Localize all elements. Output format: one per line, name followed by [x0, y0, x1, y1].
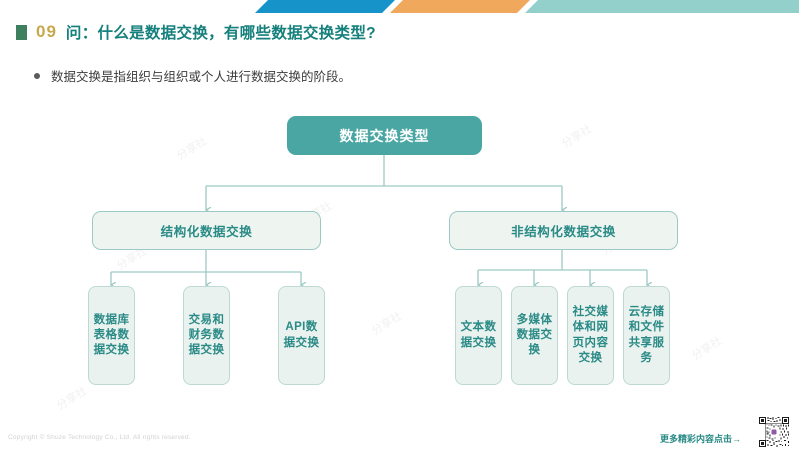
- teal-band: [525, 0, 799, 13]
- tree-leaf-trade-finance-label: 交易和财务数据交换: [187, 313, 226, 359]
- tree-node-root[interactable]: 数据交换类型: [287, 116, 482, 155]
- tree-leaf-cloud-storage-label: 云存储和文件共享服务: [627, 305, 666, 366]
- tree-leaf-text-label: 文本数据交换: [459, 320, 498, 350]
- tree-leaf-db-table[interactable]: 数据库表格数据交换: [88, 286, 135, 385]
- tree-node-structured[interactable]: 结构化数据交换: [92, 211, 321, 250]
- tree-node-structured-label: 结构化数据交换: [161, 221, 253, 240]
- tree-leaf-multimedia-label: 多媒体数据交换: [515, 313, 554, 359]
- tree-node-root-label: 数据交换类型: [340, 126, 430, 146]
- qr-code-icon: [758, 416, 790, 448]
- top-decorative-bar: [0, 0, 799, 13]
- tree-leaf-cloud-storage[interactable]: 云存储和文件共享服务: [623, 286, 670, 385]
- tree-node-unstructured[interactable]: 非结构化数据交换: [449, 211, 678, 250]
- more-content-cta[interactable]: 更多精彩内容点击→: [660, 432, 741, 445]
- page-title: 09 问：什么是数据交换，有哪些数据交换类型?: [16, 21, 376, 43]
- tree-leaf-text[interactable]: 文本数据交换: [455, 286, 502, 385]
- list-item: 数据交换是指组织与组织或个人进行数据交换的阶段。: [34, 66, 351, 85]
- slide-canvas: 09 问：什么是数据交换，有哪些数据交换类型? 数据交换是指组织与组织或个人进行…: [0, 0, 799, 450]
- title-text: 问：什么是数据交换，有哪些数据交换类型?: [66, 21, 376, 43]
- tree-node-unstructured-label: 非结构化数据交换: [511, 221, 616, 240]
- bullet-dot-icon: [34, 73, 40, 79]
- tree-leaf-trade-finance[interactable]: 交易和财务数据交换: [183, 286, 230, 385]
- tree-leaf-multimedia[interactable]: 多媒体数据交换: [511, 286, 558, 385]
- tree-leaf-api[interactable]: API数据交换: [278, 286, 325, 385]
- title-marker-square: [16, 25, 27, 40]
- copyright-text: Copyright © Shuze Technology Co., Ltd. A…: [8, 434, 191, 441]
- bullet-text: 数据交换是指组织与组织或个人进行数据交换的阶段。: [51, 66, 351, 85]
- tree-leaf-db-table-label: 数据库表格数据交换: [92, 313, 131, 359]
- tree-leaf-social-web-label: 社交媒体和网页内容交换: [571, 305, 610, 366]
- tree-leaf-api-label: API数据交换: [282, 320, 321, 350]
- tree-leaf-social-web[interactable]: 社交媒体和网页内容交换: [567, 286, 614, 385]
- blue-band: [255, 0, 395, 13]
- tree-diagram: 数据交换类型 结构化数据交换 非结构化数据交换 数据库表格数据交换 交易和财务数…: [0, 100, 799, 400]
- orange-band: [390, 0, 530, 13]
- qr-code[interactable]: [757, 415, 791, 449]
- title-number: 09: [36, 22, 57, 42]
